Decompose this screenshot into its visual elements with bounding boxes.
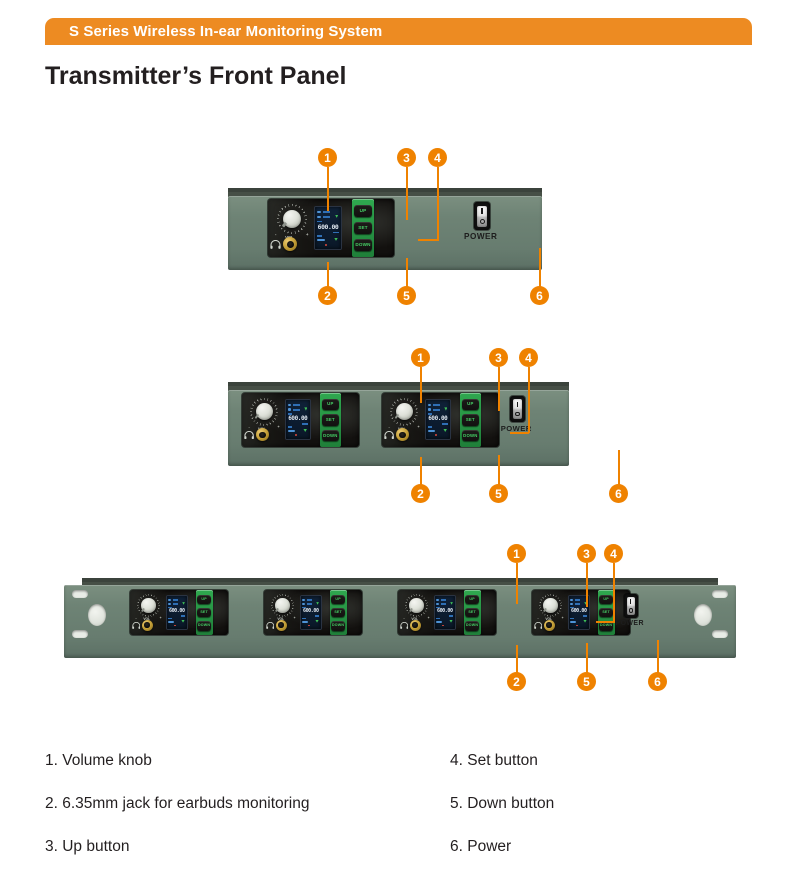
section-banner: S Series Wireless In-ear Monitoring Syst… [45,18,752,45]
lcd-group-bar [293,404,300,406]
lcd-group-bar [433,404,440,406]
lcd-group-icon [168,599,171,601]
earbud-jack-hole [412,622,417,627]
volume-knob[interactable] [277,204,307,234]
lcd-mhz-label [181,615,185,616]
callout-leader [420,367,422,403]
headphone-icon [132,622,141,629]
lcd-channel-icon [302,603,305,605]
lcd-channel-bar [433,409,440,411]
four-channel-rack-transmitter: -+VOL600.00UPSETDOWN-+VOL600.00UPSETDOWN… [64,578,736,658]
knob-minus-label: - [275,233,276,237]
up-button[interactable]: UP [599,595,613,604]
single-channel-transmitter: -+VOL600.00UPSETDOWNPOWER [228,188,542,270]
knob-minus-label: - [135,617,136,620]
lcd-group-icon [302,599,305,601]
knob-plus-label: + [562,617,564,620]
callout-4: 4 [428,148,447,167]
knob-plus-label: + [294,617,296,620]
rack-screw-slot [72,630,88,638]
rack-screw-slot [72,590,88,598]
rack-screw-slot [712,590,728,598]
lcd-frequency: 600.00 [167,609,187,614]
volume-knob[interactable] [405,594,428,617]
down-button[interactable]: DOWN [465,621,479,630]
lcd-alert-dot [295,434,297,436]
lcd-af-label [302,618,306,619]
channel-module: -+VOL600.00UPSETDOWN [382,393,499,447]
lcd-frequency: 600.00 [286,416,310,422]
callout-1: 1 [318,148,337,167]
callout-6: 6 [609,484,628,503]
lcd-channel-bar [307,603,312,605]
channel-module: -+VOL600.00UPSETDOWN [532,590,630,635]
volume-knob[interactable] [250,398,278,426]
down-button[interactable]: DOWN [462,430,479,441]
rack-ear-right [676,578,736,658]
callout-4: 4 [519,348,538,367]
callout-leader [618,450,620,485]
set-button[interactable]: SET [197,608,211,617]
lcd-alert-dot [174,625,176,627]
up-button[interactable]: UP [462,399,479,410]
callout-4: 4 [604,544,623,563]
up-button[interactable]: UP [331,595,345,604]
knob-plus-label: + [277,425,279,429]
callout-leader [516,645,518,673]
lcd-mhz-label [333,232,339,234]
lcd-mhz-label [583,615,587,616]
power-off-symbol [480,219,485,224]
lcd-af-label [168,618,172,619]
lcd-level-value [436,621,442,623]
lcd-display: 600.00 [315,207,341,249]
lcd-battery-icon [443,429,447,432]
lcd-mhz-label [442,423,447,425]
knob-minus-label: - [537,617,538,620]
volume-knob[interactable] [539,594,562,617]
down-button[interactable]: DOWN [331,621,345,630]
callout-leader [418,239,439,241]
lcd-group-bar [307,599,312,601]
lcd-level-value [570,621,576,623]
earbud-jack-hole [259,432,266,439]
channel-module: -+VOL600.00UPSETDOWN [268,199,394,257]
rack-screw-slot [712,630,728,638]
lcd-level-value [428,430,435,432]
lcd-af-label [428,426,433,428]
lcd-antenna-icon [316,602,319,605]
lcd-antenna-icon [304,407,307,410]
power-on-symbol [517,402,518,408]
power-label: POWER [616,620,644,627]
lcd-group-bar [173,599,178,601]
headphone-icon [266,622,275,629]
earbud-jack-hole [144,622,149,627]
power-label: POWER [464,232,497,241]
banner-title: S Series Wireless In-ear Monitoring Syst… [45,23,382,40]
knob-plus-label: + [428,617,430,620]
channel-module: -+VOL600.00UPSETDOWN [242,393,359,447]
product-diagram-page: S Series Wireless In-ear Monitoring Syst… [0,0,800,882]
lcd-frequency: 600.00 [301,609,321,614]
lcd-antenna-icon [335,215,338,218]
lcd-level-value [288,430,295,432]
lcd-level-value [168,621,174,623]
headphone-icon [384,431,394,439]
callout-1: 1 [507,544,526,563]
lcd-battery-icon [583,620,586,623]
lcd-frequency: 600.00 [315,224,341,230]
legend-item: 3. Up button [45,838,309,856]
knob-minus-label: - [269,617,270,620]
rack-ear-left [64,578,124,658]
down-button[interactable]: DOWN [354,239,372,251]
knob-cap[interactable] [396,403,413,420]
rack-handle-hole [694,604,712,626]
power-on-symbol [630,599,631,604]
callout-5: 5 [489,484,508,503]
set-button[interactable]: SET [465,608,479,617]
channel-module: -+VOL600.00UPSETDOWN [264,590,362,635]
headphone-icon [244,431,254,439]
callout-5: 5 [577,672,596,691]
volume-knob[interactable] [390,398,418,426]
dual-channel-transmitter: -+VOL600.00UPSETDOWN-+VOL600.00UPSETDOWN… [228,382,569,466]
lcd-af-label [317,235,322,237]
lcd-frequency: 600.00 [426,416,450,422]
lcd-display: 600.00 [435,596,455,629]
knob-plus-label: + [306,233,308,237]
power-on-symbol [481,208,482,214]
callout-6: 6 [648,672,667,691]
headphone-icon [270,240,281,249]
lcd-display: 600.00 [167,596,187,629]
legend-item: 2. 6.35mm jack for earbuds monitoring [45,795,309,813]
power-switch[interactable] [477,206,487,227]
legend-item: 5. Down button [450,795,554,813]
callout-leader [420,457,422,485]
earbud-jack-hole [287,241,294,248]
power-switch[interactable] [513,399,522,419]
down-button[interactable]: DOWN [322,430,339,441]
callout-leader [327,167,329,211]
lcd-alert-dot [308,625,310,627]
lcd-channel-bar [575,603,580,605]
headphone-icon [534,622,543,629]
lcd-mhz-label [315,615,319,616]
lcd-display: 600.00 [426,400,450,439]
volume-knob[interactable] [271,594,294,617]
lcd-mhz-label [302,423,307,425]
rack-handle-hole [88,604,106,626]
lcd-group-icon [317,211,321,214]
lcd-alert-dot [442,625,444,627]
callout-leader [327,262,329,288]
lcd-group-icon [436,599,439,601]
lcd-af-label [288,426,293,428]
earbud-jack-hole [399,432,406,439]
lcd-frequency: 600.00 [435,609,455,614]
lcd-group-icon [288,404,292,406]
lcd-channel-icon [317,216,321,219]
lcd-channel-icon [436,603,439,605]
page-title: Transmitter’s Front Panel [45,62,346,91]
set-button[interactable]: SET [354,222,372,234]
lcd-group-icon [428,404,432,406]
lcd-battery-icon [181,620,184,623]
lcd-battery-icon [315,620,318,623]
headphone-icon [400,622,409,629]
lcd-group-bar [575,599,580,601]
knob-plus-label: + [417,425,419,429]
callout-leader [498,367,500,411]
callout-leader [586,643,588,673]
knob-minus-label: - [249,425,250,429]
legend-item: 4. Set button [450,752,554,770]
down-button[interactable]: DOWN [197,621,211,630]
callout-1: 1 [411,348,430,367]
lcd-level-value [317,239,325,242]
lcd-battery-icon [449,620,452,623]
callout-leader [510,432,529,434]
callout-6: 6 [530,286,549,305]
lcd-channel-bar [323,216,330,218]
lcd-antenna-icon [182,602,185,605]
legend-column-left: 1. Volume knob 2. 6.35mm jack for earbud… [45,752,309,881]
callout-5: 5 [397,286,416,305]
callout-leader [437,167,439,240]
lcd-channel-icon [428,408,432,410]
callout-leader [596,621,614,623]
legend-item: 1. Volume knob [45,752,309,770]
lcd-channel-icon [168,603,171,605]
earbud-jack-hole [278,622,283,627]
lcd-mhz-label [449,615,453,616]
callout-leader [657,640,659,673]
lcd-display: 600.00 [301,596,321,629]
knob-cap[interactable] [256,403,273,420]
lcd-af-label [570,618,574,619]
lcd-display: 600.00 [286,400,310,439]
callout-2: 2 [318,286,337,305]
lcd-alert-dot [325,244,327,246]
callout-leader [516,563,518,604]
earbud-jack-hole [546,622,551,627]
callout-3: 3 [489,348,508,367]
set-button[interactable]: SET [322,414,339,425]
lcd-channel-bar [293,409,300,411]
lcd-battery-icon [334,238,338,241]
lcd-group-bar [323,211,330,213]
legend-item: 6. Power [450,838,554,856]
callout-leader [528,367,530,433]
lcd-channel-bar [173,603,178,605]
lcd-frequency: 600.00 [569,609,589,614]
callout-leader [613,563,615,623]
callout-3: 3 [397,148,416,167]
knob-plus-label: + [160,617,162,620]
callout-leader [498,455,500,485]
callout-3: 3 [577,544,596,563]
lcd-group-icon [570,599,573,601]
up-button[interactable]: UP [354,205,372,217]
callout-leader [586,563,588,607]
lcd-alert-dot [576,625,578,627]
set-button[interactable]: SET [599,608,613,617]
callout-2: 2 [507,672,526,691]
power-off-symbol [515,412,520,417]
legend-column-right: 4. Set button 5. Down button 6. Power [450,752,554,881]
power-off-symbol [629,608,633,612]
knob-minus-label: - [389,425,390,429]
callout-leader [406,167,408,220]
lcd-alert-dot [435,434,437,436]
power-switch[interactable] [627,597,636,615]
callout-leader [539,248,541,288]
lcd-battery-icon [303,429,307,432]
lcd-channel-icon [570,603,573,605]
lcd-af-label [436,618,440,619]
callout-2: 2 [411,484,430,503]
set-button[interactable]: SET [462,414,479,425]
volume-knob[interactable] [137,594,160,617]
lcd-antenna-icon [450,602,453,605]
set-button[interactable]: SET [331,608,345,617]
channel-module: -+VOL600.00UPSETDOWN [130,590,228,635]
lcd-channel-bar [441,603,446,605]
lcd-channel-icon [288,408,292,410]
lcd-antenna-icon [444,407,447,410]
lcd-group-bar [441,599,446,601]
knob-minus-label: - [403,617,404,620]
lcd-level-value [302,621,308,623]
up-button[interactable]: UP [465,595,479,604]
up-button[interactable]: UP [197,595,211,604]
up-button[interactable]: UP [322,399,339,410]
channel-module: -+VOL600.00UPSETDOWN [398,590,496,635]
callout-leader [406,258,408,288]
